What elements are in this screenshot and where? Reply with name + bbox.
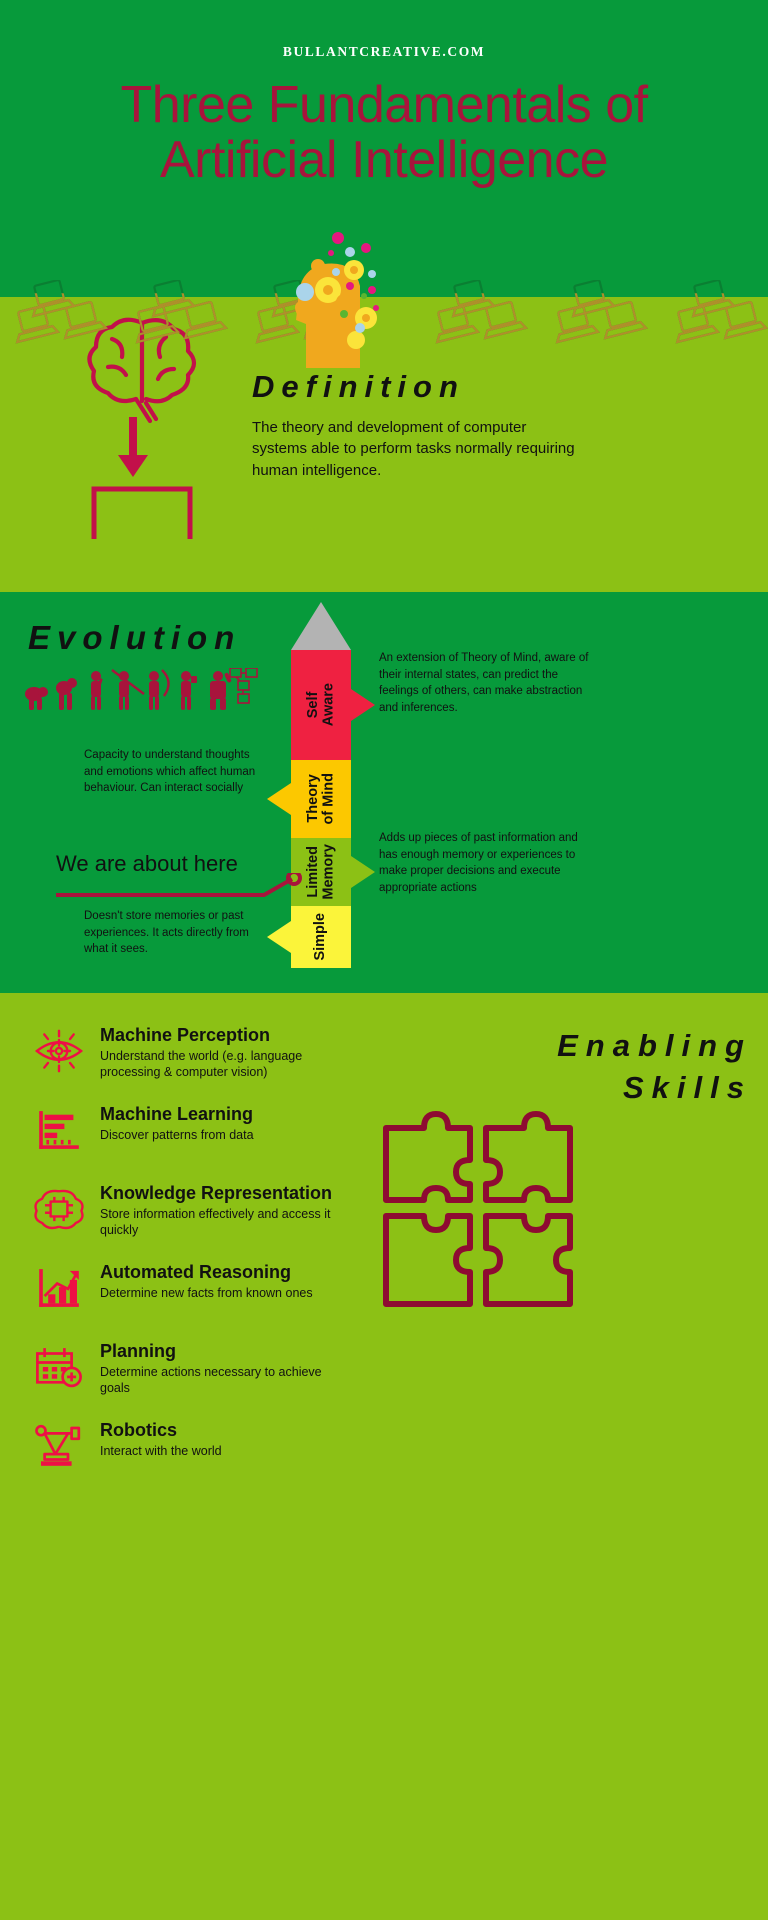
skill-description: Interact with the world	[100, 1443, 222, 1460]
skill-title: Knowledge Representation	[100, 1183, 350, 1204]
we-are-here-callout: We are about here	[56, 851, 296, 909]
title-line-1: Three Fundamentals of	[120, 76, 647, 134]
skill-description: Determine new facts from known ones	[100, 1285, 313, 1302]
pyramid-tip	[291, 602, 351, 650]
pyramid-level-theory-of-mind[interactable]: Theory of Mind	[291, 760, 351, 838]
pyramid-level-self-aware[interactable]: Self Aware	[291, 650, 351, 760]
skills-heading-line-1: Enabling	[352, 1025, 752, 1067]
skill-item-planning[interactable]: Planning Determine actions necessary to …	[28, 1339, 368, 1401]
skill-item-knowledge-representation[interactable]: Knowledge Representation Store informati…	[28, 1181, 368, 1243]
infographic-page: BULLANTCREATIVE.COM Three Fundamentals o…	[0, 0, 768, 1920]
skill-text-block: Knowledge Representation Store informati…	[100, 1181, 350, 1239]
site-url: BULLANTCREATIVE.COM	[0, 44, 768, 60]
ai-evolution-pyramid: Self Aware Theory of Mind Limited Memory…	[291, 602, 351, 968]
skill-description: Understand the world (e.g. language proc…	[100, 1048, 350, 1081]
pointer-left-icon	[267, 783, 291, 815]
skill-text-block: Planning Determine actions necessary to …	[100, 1339, 350, 1397]
evolution-description-theory-of-mind: Capacity to understand thoughts and emot…	[84, 747, 270, 797]
skill-title: Machine Perception	[100, 1025, 350, 1046]
skill-title: Machine Learning	[100, 1104, 254, 1125]
skill-description: Discover patterns from data	[100, 1127, 254, 1144]
calendar-plus-icon	[28, 1339, 90, 1395]
evolution-section: Evolution	[0, 592, 768, 993]
skills-heading: Enabling Skills	[352, 1025, 752, 1109]
skill-item-robotics[interactable]: Robotics Interact with the world	[28, 1418, 368, 1480]
pyramid-level-label: Self Aware	[306, 683, 337, 726]
skills-list: Machine Perception Understand the world …	[28, 1023, 368, 1497]
skill-description: Determine actions necessary to achieve g…	[100, 1364, 350, 1397]
definition-body: The theory and development of computer s…	[252, 417, 582, 481]
pyramid-level-label: Limited Memory	[306, 844, 337, 900]
growth-chart-icon	[28, 1260, 90, 1316]
skill-item-machine-perception[interactable]: Machine Perception Understand the world …	[28, 1023, 368, 1085]
pyramid-level-label: Theory of Mind	[306, 773, 337, 825]
enabling-skills-section: Enabling Skills	[0, 993, 768, 1920]
pointer-left-icon	[267, 921, 291, 953]
skill-title: Planning	[100, 1341, 350, 1362]
we-are-here-pointer-line	[56, 873, 306, 909]
eye-icon	[28, 1023, 90, 1079]
skill-text-block: Automated Reasoning Determine new facts …	[100, 1260, 313, 1301]
page-title: Three Fundamentals of Artificial Intelli…	[0, 78, 768, 187]
pointer-right-icon	[351, 856, 375, 888]
pointer-right-icon	[351, 689, 375, 721]
skill-item-automated-reasoning[interactable]: Automated Reasoning Determine new facts …	[28, 1260, 368, 1322]
evolution-description-self-aware: An extension of Theory of Mind, aware of…	[379, 650, 597, 717]
head-with-gears-icon	[276, 228, 396, 368]
evolution-description-limited-memory: Adds up pieces of past information and h…	[379, 830, 597, 897]
pyramid-level-simple[interactable]: Simple	[291, 906, 351, 968]
brain-chip-icon	[28, 1181, 90, 1237]
skill-text-block: Machine Perception Understand the world …	[100, 1023, 350, 1081]
pyramid-level-label: Simple	[313, 913, 328, 961]
skill-description: Store information effectively and access…	[100, 1206, 350, 1239]
robot-arm-icon	[28, 1418, 90, 1474]
skill-title: Automated Reasoning	[100, 1262, 313, 1283]
definition-heading: Definition	[252, 369, 582, 405]
bar-chart-icon	[28, 1102, 90, 1158]
skill-text-block: Robotics Interact with the world	[100, 1418, 222, 1459]
evolution-heading: Evolution	[28, 619, 241, 657]
evolution-description-simple: Doesn't store memories or past experienc…	[84, 908, 270, 958]
definition-text-block: Definition The theory and development of…	[252, 369, 582, 481]
brain-to-monitor-icon	[78, 309, 208, 539]
skill-item-machine-learning[interactable]: Machine Learning Discover patterns from …	[28, 1102, 368, 1164]
skills-heading-line-2: Skills	[352, 1067, 752, 1109]
skill-title: Robotics	[100, 1420, 222, 1441]
human-evolution-figures-icon	[20, 668, 260, 716]
puzzle-pieces-icon	[378, 1108, 578, 1323]
title-line-2: Artificial Intelligence	[0, 133, 768, 188]
skill-text-block: Machine Learning Discover patterns from …	[100, 1102, 254, 1143]
